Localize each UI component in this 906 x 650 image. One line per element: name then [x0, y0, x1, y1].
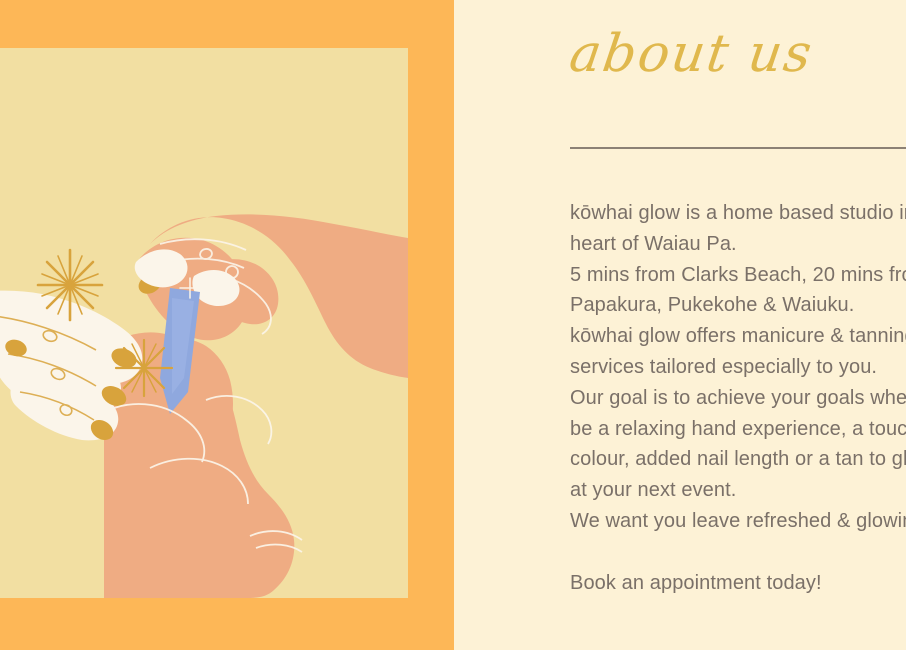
body-line: at your next event. [570, 475, 906, 506]
page-title: about us [566, 26, 817, 83]
left-image-panel [0, 0, 454, 650]
body-line-cta: Book an appointment today! [570, 568, 906, 599]
body-line: services tailored especially to you. [570, 352, 906, 383]
body-line: Our goal is to achieve your goals whethe… [570, 383, 906, 414]
body-line: be a relaxing hand experience, a touch o… [570, 414, 906, 445]
heading-divider [570, 147, 906, 149]
right-text-panel: about us kōwhai glow is a home based stu… [454, 0, 906, 650]
body-line: 5 mins from Clarks Beach, 20 mins from [570, 260, 906, 291]
sparkle-star-small [116, 340, 172, 396]
body-line: Papakura, Pukekohe & Waiuku. [570, 290, 906, 321]
body-line-spacer [570, 537, 906, 568]
about-us-page: about us kōwhai glow is a home based stu… [0, 0, 906, 650]
body-line: kōwhai glow is a home based studio in th… [570, 198, 906, 229]
body-line: heart of Waiau Pa. [570, 229, 906, 260]
body-line: kōwhai glow offers manicure & tanning [570, 321, 906, 352]
about-body-text: kōwhai glow is a home based studio in th… [570, 198, 906, 598]
illustration-frame [0, 48, 408, 598]
body-line: We want you leave refreshed & glowing. [570, 506, 906, 537]
manicure-hands-illustration [0, 48, 408, 598]
body-line: colour, added nail length or a tan to gl… [570, 444, 906, 475]
